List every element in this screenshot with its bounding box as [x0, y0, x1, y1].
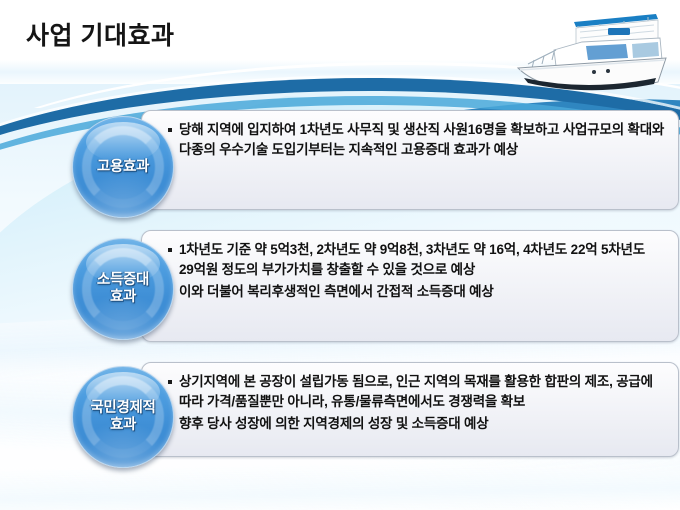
badge-label: 국민경제적 효과	[73, 367, 173, 467]
section-badge-employment[interactable]: 고용효과	[72, 116, 174, 218]
badge-label-line2: 효과	[110, 417, 136, 434]
bullet-item: 1차년도 기준 약 5억3천, 2차년도 약 9억8천, 3차년도 약 16억,…	[168, 240, 666, 281]
bullet-list: 1차년도 기준 약 5억3천, 2차년도 약 9억8천, 3차년도 약 16억,…	[168, 240, 666, 302]
bullet-item: 이와 더불어 복리후생적인 측면에서 간접적 소득증대 예상	[168, 282, 666, 302]
badge-label-line1: 소득증대	[97, 272, 149, 289]
badge-label: 고용효과	[73, 117, 173, 217]
page-title: 사업 기대효과	[26, 16, 174, 52]
bullet-list: 당해 지역에 입지하여 1차년도 사무직 및 생산직 사원16명을 확보하고 사…	[168, 120, 666, 161]
section-badge-national-economy[interactable]: 국민경제적 효과	[72, 366, 174, 468]
section-content-panel: 1차년도 기준 약 5억3천, 2차년도 약 9억8천, 3차년도 약 16억,…	[141, 230, 679, 342]
badge-label: 소득증대 효과	[73, 239, 173, 339]
section-badge-income-growth[interactable]: 소득증대 효과	[72, 238, 174, 340]
section-content-panel: 상기지역에 본 공장이 설립가동 됨으로, 인근 지역의 목재를 활용한 합판의…	[141, 362, 679, 457]
badge-label-line2: 효과	[110, 289, 136, 306]
bullet-item: 상기지역에 본 공장이 설립가동 됨으로, 인근 지역의 목재를 활용한 합판의…	[168, 372, 666, 413]
bullet-list: 상기지역에 본 공장이 설립가동 됨으로, 인근 지역의 목재를 활용한 합판의…	[168, 372, 666, 434]
section-content-panel: 당해 지역에 입지하여 1차년도 사무직 및 생산직 사원16명을 확보하고 사…	[141, 110, 679, 210]
bullet-item: 당해 지역에 입지하여 1차년도 사무직 및 생산직 사원16명을 확보하고 사…	[168, 120, 666, 161]
presentation-slide: 사업 기대효과	[0, 0, 680, 510]
badge-label-line1: 고용효과	[97, 159, 149, 176]
badge-label-line1: 국민경제적	[90, 400, 155, 417]
yacht-icon	[508, 2, 674, 98]
bullet-item: 향후 당사 성장에 의한 지역경제의 성장 및 소득증대 예상	[168, 414, 666, 434]
